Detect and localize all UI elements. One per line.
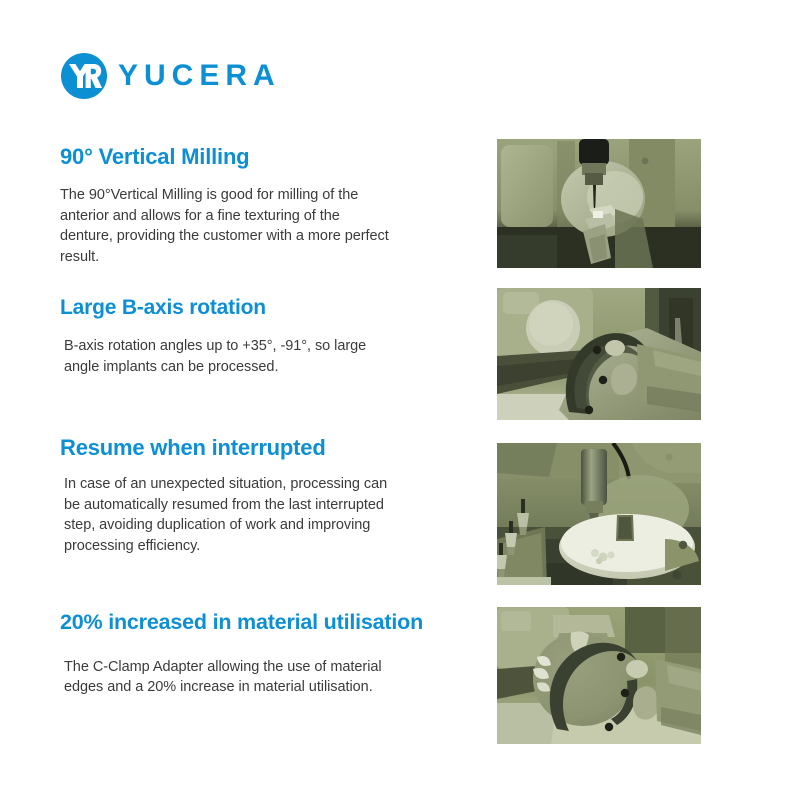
feature-photo-b-axis-rotation <box>497 288 701 420</box>
milling-spindle-vertical-milling-photo <box>497 139 701 268</box>
feature-body: The 90°Vertical Milling is good for mill… <box>60 185 390 267</box>
feature-body: B-axis rotation angles up to +35°, -91°,… <box>64 336 394 377</box>
feature-photo-resume-when-interrupted <box>497 443 701 585</box>
feature-title: Resume when interrupted <box>60 435 480 460</box>
feature-block-resume-when-interrupted: Resume when interrupted In case of an un… <box>60 435 480 557</box>
feature-block-b-axis-rotation: Large B-axis rotation B-axis rotation an… <box>60 296 480 377</box>
b-axis-rotary-clamp-photo <box>497 288 701 420</box>
feature-body: In case of an unexpected situation, proc… <box>64 474 394 556</box>
feature-title: 90° Vertical Milling <box>60 144 480 169</box>
feature-photo-vertical-milling <box>497 139 701 268</box>
feature-sheet-page: YUCERA 90° Vertical Milling The 90°Verti… <box>0 0 800 800</box>
spindle-over-disc-tool-changer-photo <box>497 443 701 585</box>
feature-title: 20% increased in material utilisation <box>60 610 480 635</box>
feature-photo-material-utilisation <box>497 607 701 744</box>
feature-body: The C-Clamp Adapter allowing the use of … <box>64 657 384 698</box>
c-clamp-adapter-disc-photo <box>497 607 701 744</box>
feature-block-material-utilisation: 20% increased in material utilisation Th… <box>60 610 480 698</box>
brand-logo: YUCERA <box>60 52 281 100</box>
feature-block-vertical-milling: 90° Vertical Milling The 90°Vertical Mil… <box>60 144 480 268</box>
feature-title: Large B-axis rotation <box>60 296 480 320</box>
yucera-yr-monogram-icon <box>60 52 108 100</box>
brand-wordmark: YUCERA <box>118 61 281 91</box>
